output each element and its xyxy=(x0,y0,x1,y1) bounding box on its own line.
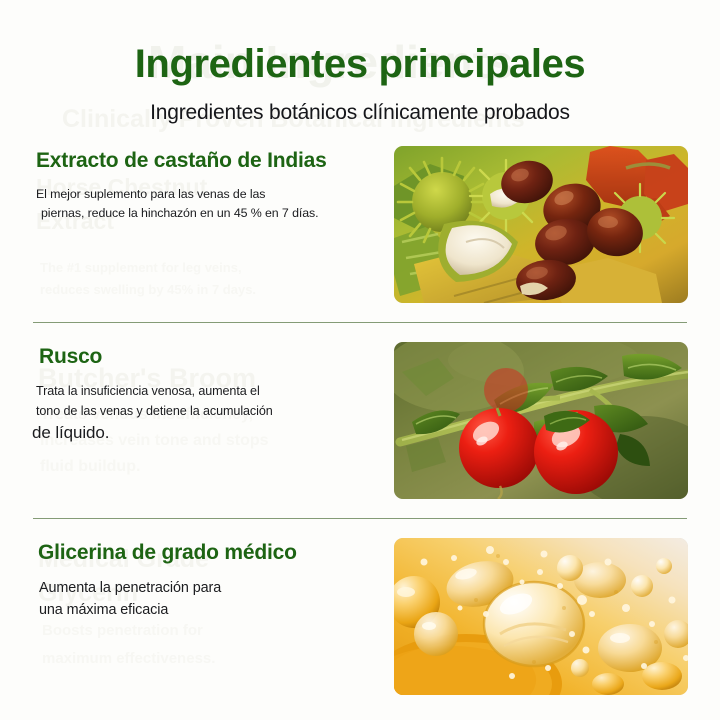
ingredient-description-line: de líquido. xyxy=(32,421,380,444)
ingredient-image-horse-chestnut xyxy=(394,146,688,303)
section-divider-1 xyxy=(33,322,687,323)
ingredient-media xyxy=(394,146,688,303)
page-title: Ingredientes principales xyxy=(0,40,720,88)
ingredient-description: Aumenta la penetración para una máxima e… xyxy=(36,568,380,621)
ingredient-row-medical-glycerin: Glicerina de grado médico Aumenta la pen… xyxy=(0,538,720,695)
spacer xyxy=(0,303,720,322)
ingredient-description-line: Aumenta la penetración para xyxy=(36,577,380,599)
ingredient-row-butchers-broom: Rusco Trata la insuficiencia venosa, aum… xyxy=(0,342,720,499)
ingredient-text-block: Glicerina de grado médico Aumenta la pen… xyxy=(36,538,388,621)
ingredient-media xyxy=(394,342,688,499)
ingredient-description-line: piernas, reduce la hinchazón en un 45 % … xyxy=(36,204,380,223)
page-subtitle: Ingredientes botánicos clínicamente prob… xyxy=(0,88,720,126)
ingredient-image-medical-glycerin xyxy=(394,538,688,695)
page-header: Ingredientes principales Ingredientes bo… xyxy=(0,0,720,126)
ingredient-title: Rusco xyxy=(36,342,380,372)
ingredient-text-block: Rusco Trata la insuficiencia venosa, aum… xyxy=(36,342,388,444)
ingredient-text-block: Extracto de castaño de Indias El mejor s… xyxy=(36,146,388,223)
ingredient-media xyxy=(394,538,688,695)
ingredient-title: Glicerina de grado médico xyxy=(36,538,380,568)
ingredient-description-line: El mejor suplemento para las venas de la… xyxy=(36,185,380,204)
ingredients-page: Main Ingredients Clinically Proven Botan… xyxy=(0,0,720,720)
ingredient-description: Trata la insuficiencia venosa, aumenta e… xyxy=(36,372,380,444)
ingredient-description-line: una máxima eficacia xyxy=(36,599,380,621)
spacer xyxy=(0,519,720,538)
ingredient-description: El mejor suplemento para las venas de la… xyxy=(36,176,380,223)
ingredient-description-line: tono de las venas y detiene la acumulaci… xyxy=(36,401,380,421)
ingredient-image-butchers-broom xyxy=(394,342,688,499)
ingredient-list: Extracto de castaño de Indias El mejor s… xyxy=(0,146,720,695)
ingredient-description-line: Trata la insuficiencia venosa, aumenta e… xyxy=(36,381,380,401)
section-divider-2 xyxy=(33,518,687,519)
ingredient-row-horse-chestnut: Extracto de castaño de Indias El mejor s… xyxy=(0,146,720,303)
spacer xyxy=(0,499,720,518)
spacer xyxy=(0,323,720,342)
ingredient-title: Extracto de castaño de Indias xyxy=(36,146,380,176)
